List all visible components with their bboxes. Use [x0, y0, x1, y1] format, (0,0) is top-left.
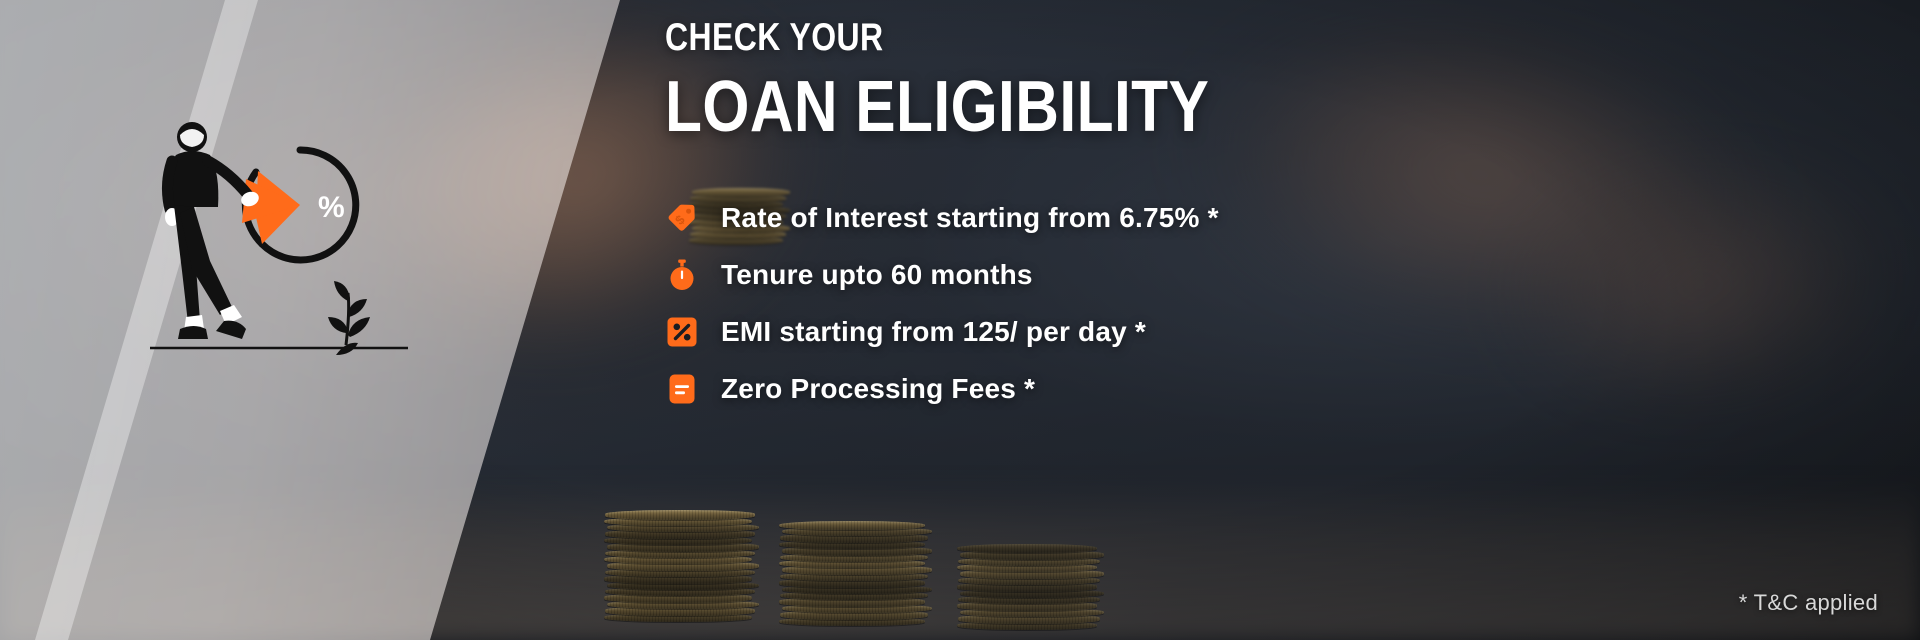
pie-chart-graphic: % [242, 150, 356, 260]
feature-item-processing-fees: Zero Processing Fees * [665, 360, 1845, 417]
businessman-figure [165, 122, 261, 339]
terms-disclaimer: * T&C applied [1739, 590, 1878, 616]
kicker-text: CHECK YOUR [665, 18, 1633, 59]
price-tag-dollar-icon: $ [665, 201, 699, 235]
loan-eligibility-banner: % [0, 0, 1920, 640]
plant-sprig [328, 281, 370, 355]
percent-badge-icon [665, 315, 699, 349]
percent-symbol: % [318, 191, 345, 224]
banner-content: CHECK YOUR LOAN ELIGIBILITY $ Rate of In… [665, 18, 1845, 417]
feature-item-rate-of-interest: $ Rate of Interest starting from 6.75% * [665, 189, 1845, 246]
businessman-illustration: % [150, 105, 450, 425]
feature-label: EMI starting from 125/ per day * [721, 316, 1146, 348]
feature-label: Rate of Interest starting from 6.75% * [721, 202, 1219, 234]
document-lines-icon [665, 372, 699, 406]
feature-item-emi: EMI starting from 125/ per day * [665, 303, 1845, 360]
feature-label: Tenure upto 60 months [721, 259, 1033, 291]
stopwatch-icon [665, 258, 699, 292]
page-title: LOAN ELIGIBILITY [665, 71, 1656, 144]
feature-label: Zero Processing Fees * [721, 373, 1035, 405]
feature-item-tenure: Tenure upto 60 months [665, 246, 1845, 303]
feature-list: $ Rate of Interest starting from 6.75% *… [665, 189, 1845, 417]
